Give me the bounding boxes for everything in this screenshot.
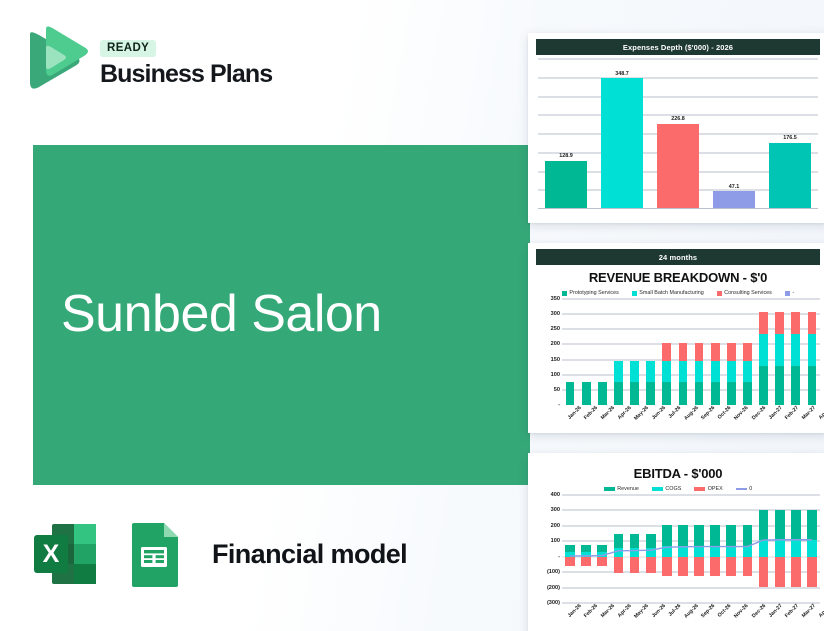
bar-slot [675,495,691,603]
bar-slot [804,495,820,603]
x-tick-label: Apr-26 [617,405,633,421]
bar-slot [756,299,772,405]
y-tick-label: (100) [547,569,560,575]
bar-segment [791,334,800,366]
svg-text:X: X [43,540,60,568]
bar-segment [614,361,623,382]
bar-segment-revenue [791,510,801,540]
bar-slot: 47.1 [706,59,762,209]
stacked-bar[interactable] [791,299,800,405]
bar-slot [707,299,723,405]
bar-slot [562,495,578,603]
stacked-bar[interactable] [597,495,607,603]
bar-segment-group-positive [614,534,624,556]
legend-label: Small Batch Manufacturing [639,290,703,296]
legend-label: Consulting Services [724,290,772,296]
bar-slot [610,299,626,405]
bar-slot [627,495,643,603]
bar-segment-revenue [581,545,591,552]
bar-slot [723,495,739,603]
stacked-bar[interactable] [646,299,655,405]
x-axis-line [538,208,818,209]
bar-segment [808,312,817,334]
bar-segment [759,312,768,334]
bar-segment-cogs [807,540,817,557]
y-tick-label: 250 [551,326,560,332]
bar-segment-cogs [759,540,769,557]
bar-segment [775,334,784,366]
y-tick-label: 100 [551,372,560,378]
bar-slot [707,495,723,603]
expenses-plot: 128.9348.7226.847.1176.5 [538,59,818,209]
bar-slot: 176.5 [762,59,818,209]
bar-segment-revenue [807,510,817,540]
bar-segment-group-negative [710,557,720,577]
bar-segment-group-negative [662,557,672,577]
stacked-bar[interactable] [807,495,817,603]
bar-segment [646,382,655,405]
bar-segment-group-negative [630,557,640,573]
formats-label: Financial model [212,539,407,570]
stacked-bar[interactable] [726,495,736,603]
bar-segment [582,382,591,405]
brand-title: Business Plans [100,61,272,87]
bar-segment-revenue [775,510,785,540]
legend-swatch [652,487,663,491]
x-tick-label: Jan-27 [768,405,784,421]
bar-segment-group-negative [791,557,801,587]
bar-segment [743,343,752,361]
x-tick-label: Jan-27 [768,603,784,619]
bar-segment-revenue [678,525,688,546]
chart-card-ebitda[interactable]: EBITDA - $'000 RevenueCOGSOPEX0 40030020… [528,453,824,631]
chart-card-revenue[interactable]: 24 months REVENUE BREAKDOWN - $'0 Protot… [528,243,824,433]
legend-item[interactable]: OPEX [694,486,722,492]
bar-slot [723,299,739,405]
bar-segment [711,382,720,405]
x-tick-label: Aug-26 [683,603,700,620]
x-tick-label: Sep-26 [700,405,716,421]
bar-segment-cogs [630,548,640,556]
y-tick-label: 200 [551,341,560,347]
x-tick-label: Feb-27 [784,405,800,421]
legend-label: 0 [749,486,752,492]
y-tick-label: 200 [551,523,560,529]
bar-segment-revenue [759,510,769,540]
bar-segment-group-positive [597,545,607,557]
bar-value-label: 348.7 [615,71,629,77]
y-tick-label: 150 [551,357,560,363]
bar[interactable]: 226.8 [657,124,698,209]
bar-segment-group-negative [565,557,575,567]
bar-slot [772,299,788,405]
bar-segment-group-negative [581,557,591,567]
stacked-bar[interactable] [743,495,753,603]
bar-segment [695,382,704,405]
legend-swatch [717,291,722,296]
stacked-bar[interactable] [566,299,575,405]
x-tick-label: Jan-26 [567,603,583,619]
stacked-bar[interactable] [775,495,785,603]
bar-segment-cogs [646,548,656,556]
legend-swatch [562,291,567,296]
bar-segment-cogs [726,546,736,557]
bar-slot [788,299,804,405]
bar-slot: 128.9 [538,59,594,209]
legend-swatch [736,488,747,490]
y-tick-label: 300 [551,507,560,513]
slide-canvas: READY Business Plans Sunbed Salon X F [0,0,824,631]
bar-segment-group-negative [726,557,736,577]
bar-segment-cogs [614,548,624,556]
x-tick-label: Apr-27 [817,603,824,619]
x-tick-label: Mar-26 [600,603,616,619]
x-tick-label: Nov-26 [734,405,750,421]
bar-slot [691,299,707,405]
x-tick-label: Jun-26 [651,405,667,421]
legend-swatch [694,487,705,491]
bar-slot [578,299,594,405]
bar-segment [727,382,736,405]
bar-segment-group-positive [791,510,801,557]
bar-segment-group-positive [726,525,736,557]
x-tick-label: Nov-26 [734,603,750,619]
y-tick-label: - [558,402,560,408]
stacked-bar[interactable] [662,495,672,603]
bar-segment [695,343,704,361]
bar-segment-revenue [597,545,607,552]
bar-segment-group-negative [807,557,817,587]
bar-segment [598,382,607,405]
bar[interactable]: 47.1 [713,191,754,209]
bar[interactable]: 128.9 [545,161,586,209]
y-tick-label: (200) [547,585,560,591]
bar-segment-group-positive [775,510,785,557]
x-tick-label: Mar-26 [600,405,616,421]
bar-segment-group-negative [759,557,769,587]
bar-slot [578,495,594,603]
stacked-bar[interactable] [630,299,639,405]
stacked-bar[interactable] [710,495,720,603]
bar-slot [772,495,788,603]
bar-segment [646,361,655,382]
bar-segment-group-negative [614,557,624,573]
bar-segment-revenue [630,534,640,548]
x-tick-label: Mar-27 [801,405,817,421]
bar-segment-group-negative [775,557,785,587]
bar-segment-revenue [662,525,672,546]
x-tick-label: Oct-26 [717,405,733,421]
bar-value-label: 47.1 [729,184,740,190]
play-logo-icon [22,26,88,96]
revenue-chart-title: REVENUE BREAKDOWN - $'0 [528,270,824,285]
bar-segment-group-positive [807,510,817,557]
legend-label: Prototyping Services [569,290,618,296]
bar-segment-revenue [565,545,575,552]
bar[interactable]: 348.7 [601,78,642,209]
bar-slot: 226.8 [650,59,706,209]
bar-slot [788,495,804,603]
stacked-bar[interactable] [695,299,704,405]
stacked-bar[interactable] [598,299,607,405]
legend-label: COGS [665,486,681,492]
bar-segment [759,366,768,405]
stacked-bar[interactable] [630,495,640,603]
bar-segment [727,343,736,361]
stacked-bar[interactable] [727,299,736,405]
brand-block: READY Business Plans [22,26,272,96]
bar-segment [808,334,817,366]
y-tick-label: 350 [551,296,560,302]
y-tick-label: (300) [547,600,560,606]
bar-segment-revenue [710,525,720,546]
x-tick-label: May-26 [633,603,650,620]
x-tick-label: Oct-26 [717,603,733,619]
stacked-bar[interactable] [679,299,688,405]
bar-segment [727,361,736,382]
legend-swatch [785,291,790,296]
bar-segment-cogs [710,546,720,557]
google-sheets-icon [118,518,190,590]
x-tick-label: Feb-27 [784,603,800,619]
y-tick-label: 100 [551,538,560,544]
bar-segment [630,382,639,405]
bar-segment-group-negative [678,557,688,577]
stacked-bar[interactable] [791,495,801,603]
x-tick-label: Jan-26 [567,405,583,421]
legend-item[interactable]: - [785,290,794,296]
bar-slot [739,495,755,603]
bar-segment-group-positive [694,525,704,557]
y-tick-label: - [558,554,560,560]
bar-segment-revenue [726,525,736,546]
bar-segment-group-positive [581,545,591,557]
x-tick-label: Sep-26 [700,603,716,619]
legend-swatch [632,291,637,296]
bar-slot [610,495,626,603]
formats-row: X Financial model [30,518,407,590]
bar-segment [711,361,720,382]
bar-value-label: 176.5 [783,135,797,141]
stacked-bar[interactable] [581,495,591,603]
bar-segment-cogs [662,546,672,557]
bar-segment-group-positive [743,525,753,557]
bar-value-label: 128.9 [559,153,573,159]
bar-segment-cogs [743,546,753,557]
stacked-bar[interactable] [678,495,688,603]
bar-segment [743,361,752,382]
stacked-bar[interactable] [662,299,671,405]
x-tick-label: Feb-26 [583,405,599,421]
stacked-bar[interactable] [614,495,624,603]
bar-segment [662,382,671,405]
bar-segment-group-positive [662,525,672,557]
bar-segment [695,361,704,382]
stacked-bar[interactable] [759,495,769,603]
bar-slot [659,299,675,405]
legend-label: OPEX [708,486,723,492]
x-label-slot: Jan-26 [562,405,578,411]
x-tick-label: Apr-27 [817,405,824,421]
stacked-bar[interactable] [614,299,623,405]
x-tick-label: Jun-26 [651,603,667,619]
bar-segment-cogs [775,540,785,557]
bar-segment [662,343,671,361]
bar-segment [743,382,752,405]
bar-segment [662,361,671,382]
bar-slot [739,299,755,405]
revenue-band-label: 24 months [536,249,820,265]
bar-segment-group-positive [630,534,640,556]
bar-segment [791,366,800,405]
bar-segment-revenue [694,525,704,546]
bar-slot [659,495,675,603]
chart-card-expenses[interactable]: Expenses Depth ($'000) - 2026 128.9348.7… [528,33,824,223]
bar-segment [614,382,623,405]
bar-segment [775,312,784,334]
x-tick-label: Mar-27 [801,603,817,619]
bar-slot [804,299,820,405]
x-tick-label: Jul-26 [667,603,682,618]
bar-slot [562,299,578,405]
page-title: Sunbed Salon [33,286,382,343]
legend-item[interactable]: Consulting Services [717,290,772,296]
x-tick-label: May-26 [633,405,650,422]
bar-segment-group-positive [710,525,720,557]
legend-item[interactable]: COGS [652,486,681,492]
bar-slot [594,495,610,603]
bar-slot: 348.7 [594,59,650,209]
ebitda-chart-title: EBITDA - $'000 [528,466,824,481]
legend-label: - [792,290,794,296]
bar-segment [679,361,688,382]
y-tick-label: 300 [551,311,560,317]
bar-segment-cogs [791,540,801,557]
x-tick-label: Feb-26 [583,603,599,619]
excel-icon: X [30,518,102,590]
bar-segment-group-positive [646,534,656,556]
bar-segment-cogs [694,546,704,557]
stacked-bar[interactable] [808,299,817,405]
x-tick-label: Dec-26 [751,405,767,421]
bar-slot [756,495,772,603]
revenue-plot: 35030025020015010050- Jan-26Feb-26Mar-26… [536,299,820,405]
legend-swatch [604,487,615,491]
bar-slot [675,299,691,405]
hero-banner: Sunbed Salon [33,145,530,485]
legend-item[interactable]: Revenue [604,486,639,492]
bar-segment-group-positive [565,545,575,557]
stacked-bar[interactable] [646,495,656,603]
bar-segment [808,366,817,405]
stacked-bar[interactable] [759,299,768,405]
bar-segment-group-negative [694,557,704,577]
bar-slot [627,299,643,405]
bar-segment-revenue [743,525,753,546]
stacked-bar[interactable] [711,299,720,405]
x-tick-label: Dec-26 [751,603,767,619]
bar-segment [630,361,639,382]
stacked-bar[interactable] [743,299,752,405]
bar-slot [643,299,659,405]
bar-segment-revenue [646,534,656,548]
bar-segment-group-positive [678,525,688,557]
bar-segment-group-negative [597,557,607,567]
stacked-bar[interactable] [582,299,591,405]
legend-item[interactable]: 0 [736,486,753,492]
ebitda-legend: RevenueCOGSOPEX0 [528,486,824,492]
x-label-slot: Jan-26 [562,603,578,609]
y-tick-label: 50 [554,387,560,393]
bar-segment [566,382,575,405]
bar-slot [691,495,707,603]
bar-segment-group-negative [646,557,656,573]
bar-segment [759,334,768,366]
bar-segment [711,343,720,361]
stacked-bar[interactable] [775,299,784,405]
bar-slot [643,495,659,603]
legend-item[interactable]: Prototyping Services [562,290,619,296]
ebitda-plot: 400300200100-(100)(200)(300) Jan-26Feb-2… [536,495,820,603]
bar-value-label: 226.8 [671,116,685,122]
x-tick-label: Aug-26 [683,405,700,422]
bar-segment [775,366,784,405]
y-tick-label: 400 [551,492,560,498]
expenses-chart-title: Expenses Depth ($'000) - 2026 [536,39,820,55]
x-tick-label: Jul-26 [667,405,682,420]
ready-badge: READY [100,40,156,57]
bar-segment-cogs [678,546,688,557]
bar-segment [679,343,688,361]
stacked-bar[interactable] [565,495,575,603]
stacked-bar[interactable] [694,495,704,603]
bar-segment-revenue [614,534,624,548]
legend-label: Revenue [617,486,639,492]
revenue-legend: Prototyping ServicesSmall Batch Manufact… [528,290,824,296]
legend-item[interactable]: Small Batch Manufacturing [632,290,704,296]
bar[interactable]: 176.5 [769,143,810,209]
bar-segment-group-negative [743,557,753,577]
bar-segment-group-positive [759,510,769,557]
bar-slot [594,299,610,405]
bar-segment [679,382,688,405]
x-tick-label: Apr-26 [617,603,633,619]
bar-segment [791,312,800,334]
